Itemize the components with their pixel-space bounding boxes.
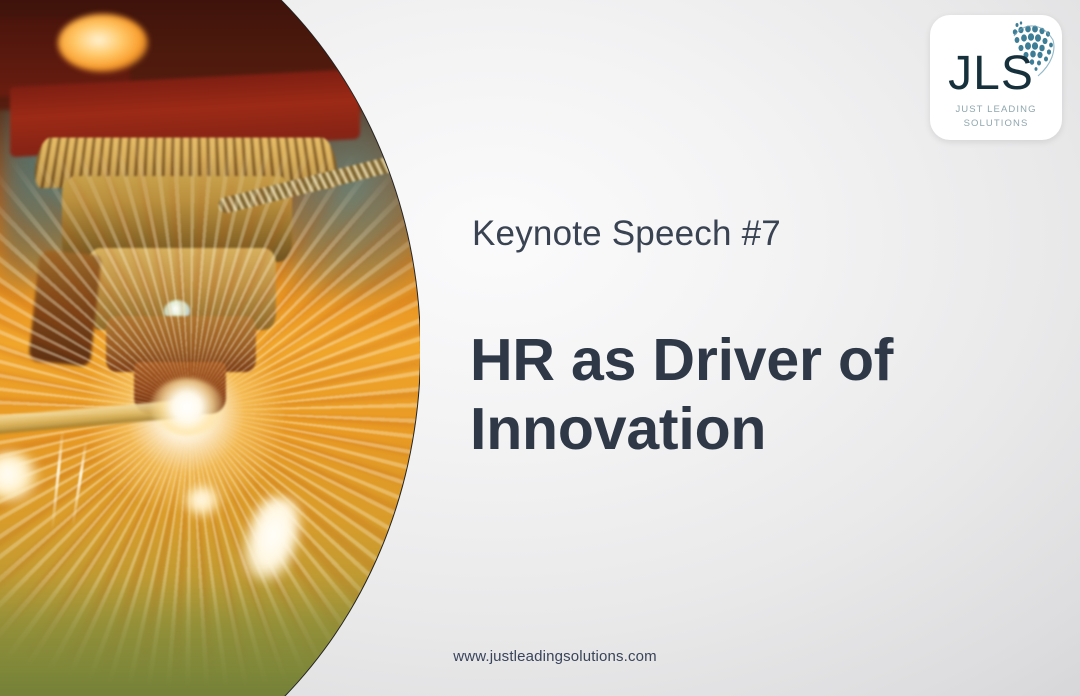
footer-website-url: www.justleadingsolutions.com bbox=[0, 648, 1080, 665]
logo-tagline-line-1: JUST LEADING bbox=[930, 103, 1062, 117]
footer-website-url-text: www.justleadingsolutions.com bbox=[453, 648, 656, 665]
keynote-slide: Keynote Speech #7 HR as Driver of Innova… bbox=[0, 0, 1080, 696]
spark-burst-core bbox=[150, 378, 224, 436]
photo-floor-shadow bbox=[0, 574, 420, 696]
headline-line-2: Innovation bbox=[470, 395, 1030, 465]
photo-bokeh-top bbox=[58, 14, 148, 72]
logo-tagline-line-2: SOLUTIONS bbox=[930, 117, 1062, 131]
headline-line-1: HR as Driver of bbox=[470, 327, 893, 393]
photo-bokeh bbox=[186, 486, 220, 516]
photo-curved-mask bbox=[0, 0, 420, 696]
page-title: HR as Driver of Innovation bbox=[470, 326, 1030, 465]
laser-cutting-photo bbox=[0, 0, 420, 696]
slide-kicker: Keynote Speech #7 bbox=[472, 214, 781, 254]
logo-wordmark: JLS bbox=[925, 46, 1057, 101]
photo-panel bbox=[0, 0, 420, 696]
logo-card: JLS JUST LEADING SOLUTIONS bbox=[930, 15, 1062, 140]
logo-tagline: JUST LEADING SOLUTIONS bbox=[930, 103, 1062, 131]
